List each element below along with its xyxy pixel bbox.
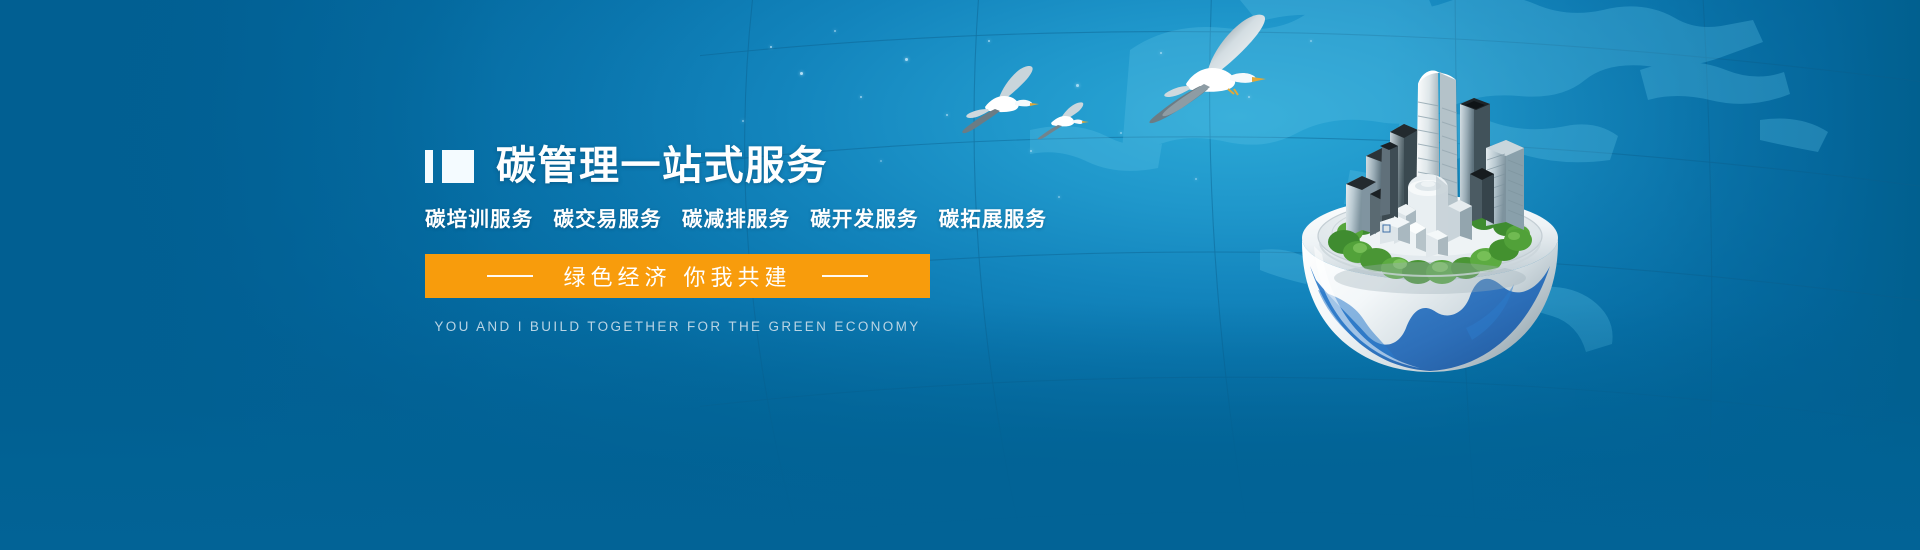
slogan-bar: 绿色经济你我共建	[425, 254, 930, 298]
seagull-large	[1130, 10, 1280, 125]
service-list: 碳培训服务 碳交易服务 碳减排服务 碳开发服务 碳拓展服务	[425, 202, 1065, 232]
page-title: 碳管理一站式服务	[496, 146, 828, 186]
globe-city-illustration	[1270, 28, 1590, 378]
slogan-rule-left	[487, 275, 533, 277]
logo-square-icon	[442, 150, 474, 183]
headline-row: 碳管理一站式服务	[425, 146, 1065, 186]
slogan-text: 绿色经济你我共建	[563, 260, 791, 292]
logo-bar-icon	[425, 150, 433, 183]
slogan-rule-right	[822, 275, 868, 277]
service-item-2: 碳减排服务	[682, 208, 791, 231]
logo-mark	[425, 150, 474, 183]
service-item-1: 碳交易服务	[553, 208, 662, 231]
slogan-text-a: 绿色经济	[563, 265, 671, 290]
banner-content: 碳管理一站式服务 碳培训服务 碳交易服务 碳减排服务 碳开发服务 碳拓展服务 绿…	[425, 146, 1065, 334]
seagull-medium	[955, 62, 1045, 134]
hero-banner: 碳管理一站式服务 碳培训服务 碳交易服务 碳减排服务 碳开发服务 碳拓展服务 绿…	[0, 0, 1920, 550]
service-item-3: 碳开发服务	[810, 208, 919, 231]
english-tagline: YOU AND I BUILD TOGETHER FOR THE GREEN E…	[425, 319, 930, 334]
service-item-0: 碳培训服务	[425, 208, 534, 231]
seagull-small	[1035, 100, 1093, 140]
slogan-text-b: 你我共建	[684, 265, 792, 290]
service-item-4: 碳拓展服务	[939, 208, 1048, 231]
